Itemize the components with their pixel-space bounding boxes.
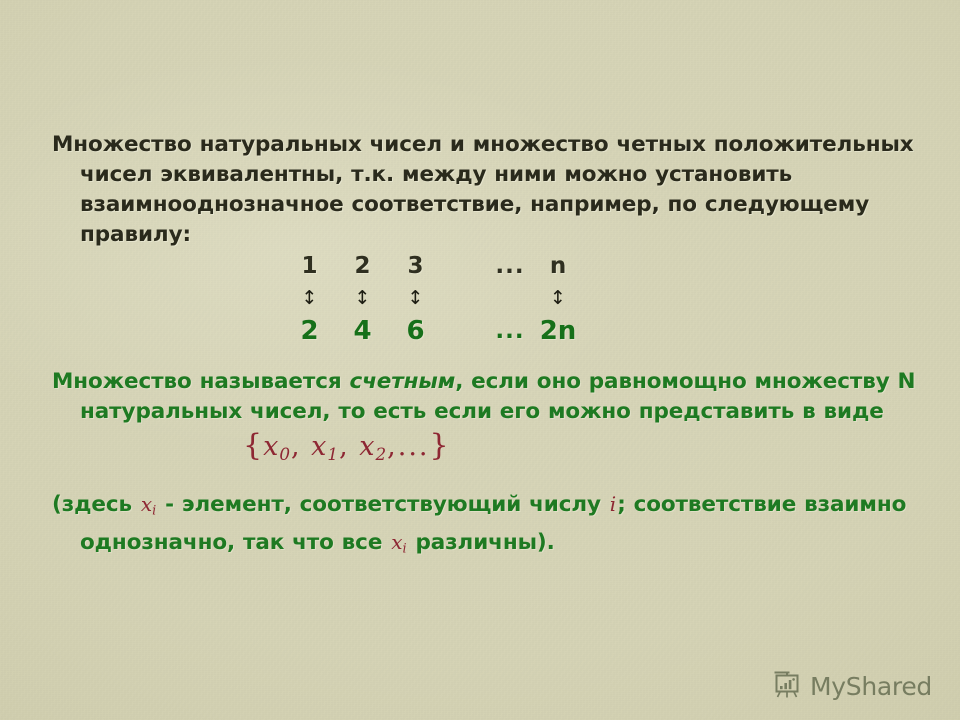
formula-term-x1: x1 <box>311 431 339 462</box>
formula-close-brace: } <box>429 428 449 463</box>
mapping-row-evens: 2 4 6 ... 2n <box>283 314 586 348</box>
note-math-i: i <box>609 492 617 516</box>
slide-content: Множество натуральных чисел и множество … <box>0 0 960 720</box>
arrow-updown-icon-4: ↕ <box>530 282 586 314</box>
formula-term-x1-base: x <box>311 431 327 462</box>
note-text-part4: различны). <box>408 530 555 555</box>
note-math1-sub: i <box>152 504 156 519</box>
note-math3-sub: i <box>402 541 406 556</box>
slide-canvas: Множество натуральных чисел и множество … <box>0 0 960 720</box>
formula-term-x2-base: x <box>359 431 375 462</box>
formula-ellipsis: ... <box>398 431 430 462</box>
formula-term-x2-sub: 2 <box>375 444 387 464</box>
myshared-label: MyShared <box>810 672 932 701</box>
paragraph-note: (здесь xi - элемент, соответствующий чис… <box>52 489 946 564</box>
mapping-top-ellipsis: ... <box>490 250 530 282</box>
myshared-watermark: MyShared <box>771 670 932 702</box>
mapping-top-cell-1: 1 <box>283 250 336 282</box>
note-math-x-sub-i-second: xi <box>390 530 407 554</box>
note-math-x-sub-i-first: xi <box>140 492 157 516</box>
note-text-part1: (здесь <box>52 492 140 517</box>
mapping-arrow-gap <box>490 282 530 314</box>
correspondence-mapping: 1 2 3 ... n ↕ ↕ ↕ ↕ 2 4 6 ... 2n <box>283 250 586 348</box>
formula-term-x0-sub: 0 <box>279 444 291 464</box>
formula-term-x1-sub: 1 <box>327 444 339 464</box>
mapping-bottom-cell-2: 4 <box>336 314 389 348</box>
formula-comma-3: , <box>387 431 398 462</box>
formula-term-x2: x2 <box>359 431 387 462</box>
arrow-updown-icon-2: ↕ <box>336 282 389 314</box>
formula-term-x0-base: x <box>263 431 279 462</box>
formula-comma-2: , <box>339 431 350 462</box>
definition-italic-term: счетным <box>349 369 455 394</box>
countable-set-formula: {x0, x1, x2,...} <box>243 428 450 464</box>
formula-comma-1: , <box>291 431 302 462</box>
mapping-bottom-spacer <box>442 314 490 348</box>
arrow-updown-icon-3: ↕ <box>389 282 442 314</box>
definition-text-before: Множество называется <box>52 369 349 394</box>
mapping-arrow-spacer <box>442 282 490 314</box>
mapping-bottom-ellipsis: ... <box>490 314 530 348</box>
note-math1-base: x <box>141 492 152 516</box>
paragraph-definition: Множество называется счетным, если оно р… <box>52 367 946 427</box>
presentation-chart-icon <box>771 670 803 702</box>
mapping-top-cell-3: 3 <box>389 250 442 282</box>
mapping-top-cell-2: 2 <box>336 250 389 282</box>
mapping-row-naturals: 1 2 3 ... n <box>283 250 586 282</box>
note-math3-base: x <box>391 530 402 554</box>
paragraph-intro: Множество натуральных чисел и множество … <box>52 130 946 250</box>
arrow-updown-icon-1: ↕ <box>283 282 336 314</box>
mapping-row-arrows: ↕ ↕ ↕ ↕ <box>283 282 586 314</box>
formula-term-x0: x0 <box>263 431 291 462</box>
mapping-bottom-cell-2n: 2n <box>530 314 586 348</box>
mapping-bottom-cell-3: 6 <box>389 314 442 348</box>
note-text-part2: - элемент, соответствующий числу <box>157 492 609 517</box>
formula-open-brace: { <box>243 428 263 463</box>
mapping-bottom-cell-1: 2 <box>283 314 336 348</box>
mapping-top-spacer <box>442 250 490 282</box>
mapping-top-cell-n: n <box>530 250 586 282</box>
